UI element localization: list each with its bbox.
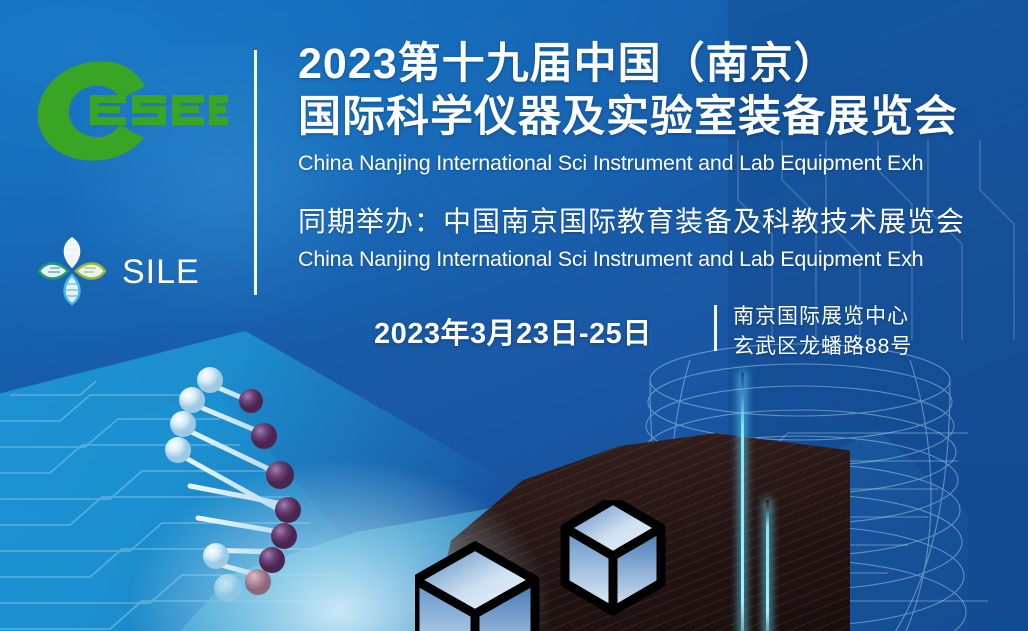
cesee-logo-icon [28,55,228,165]
exhibition-banner: SILE 2023第十九届中国（南京） 国际科学仪器及实验室装备展览会 Chin… [0,0,1028,631]
title-block: 2023第十九届中国（南京） 国际科学仪器及实验室装备展览会 China Nan… [298,38,998,178]
venue-address: 玄武区龙蟠路88号 [733,332,912,362]
title-line-1: 2023第十九届中国（南京） [298,38,998,91]
concurrent-event-block: 同期举办：中国南京国际教育装备及科教技术展览会 China Nanjing In… [298,204,1008,274]
header-vertical-divider [254,50,257,295]
title-english-subtitle: China Nanjing International Sci Instrume… [298,148,998,178]
title-line-2: 国际科学仪器及实验室装备展览会 [298,91,998,144]
dna-helix-icon [150,360,340,625]
glow-line-tall [741,372,744,631]
concurrent-event-english: China Nanjing International Sci Instrume… [298,244,1008,274]
sile-logo-icon: SILE [36,235,216,307]
venue-vertical-divider [714,305,717,351]
venue-block: 南京国际展览中心 玄武区龙蟠路88号 [733,302,912,362]
isometric-cubes-icon [415,500,715,631]
sile-logo-text: SILE [122,253,200,291]
concurrent-event-chinese: 同期举办：中国南京国际教育装备及科教技术展览会 [298,204,1008,240]
event-date: 2023年3月23日-25日 [374,310,652,352]
venue-name: 南京国际展览中心 [733,302,912,332]
glow-line-short [766,500,769,631]
